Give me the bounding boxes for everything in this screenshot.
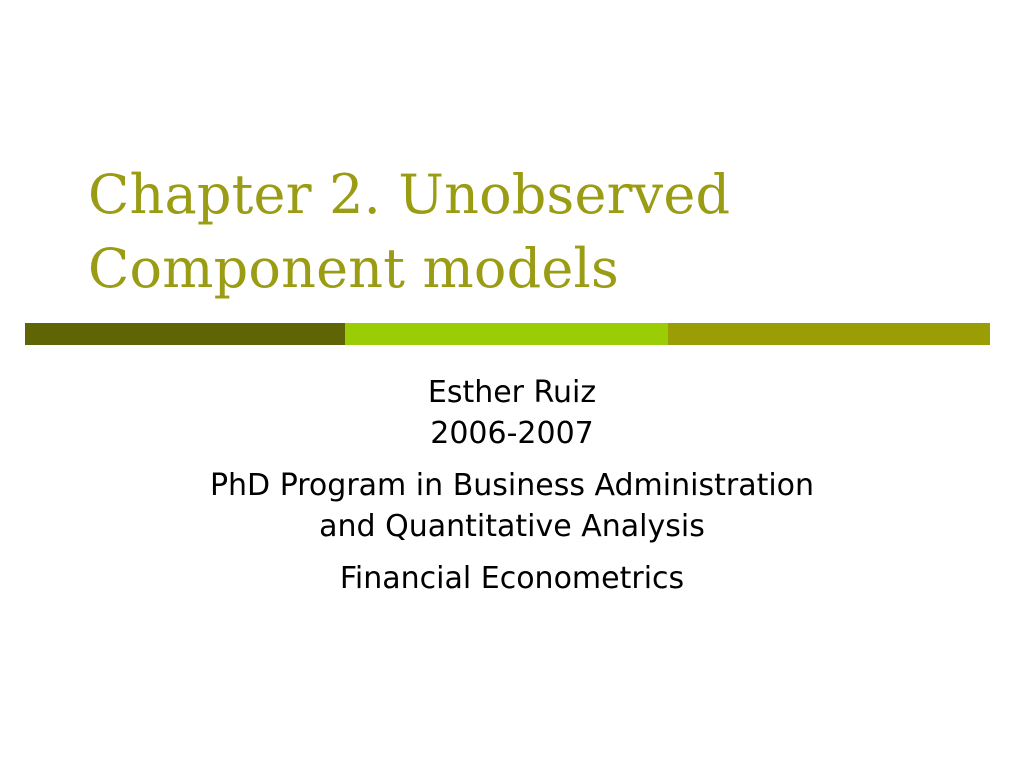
author-name: Esther Ruiz (132, 372, 892, 413)
slide-title-line-2: Component models (88, 232, 948, 306)
slide-subtitle-block: Esther Ruiz 2006-2007 PhD Program in Bus… (132, 372, 892, 599)
slide-title: Chapter 2. Unobserved Component models (88, 158, 948, 306)
color-divider-bar (25, 323, 990, 345)
slide-title-line-1: Chapter 2. Unobserved (88, 158, 948, 232)
course-name: Financial Econometrics (132, 558, 892, 599)
program-line-2: and Quantitative Analysis (132, 506, 892, 547)
divider-segment-dark-olive (25, 323, 345, 345)
divider-segment-olive-gold (668, 323, 990, 345)
presentation-slide: Chapter 2. Unobserved Component models E… (0, 0, 1024, 768)
program-line-1: PhD Program in Business Administration (132, 465, 892, 506)
academic-year: 2006-2007 (132, 413, 892, 454)
divider-segment-bright-green (345, 323, 668, 345)
